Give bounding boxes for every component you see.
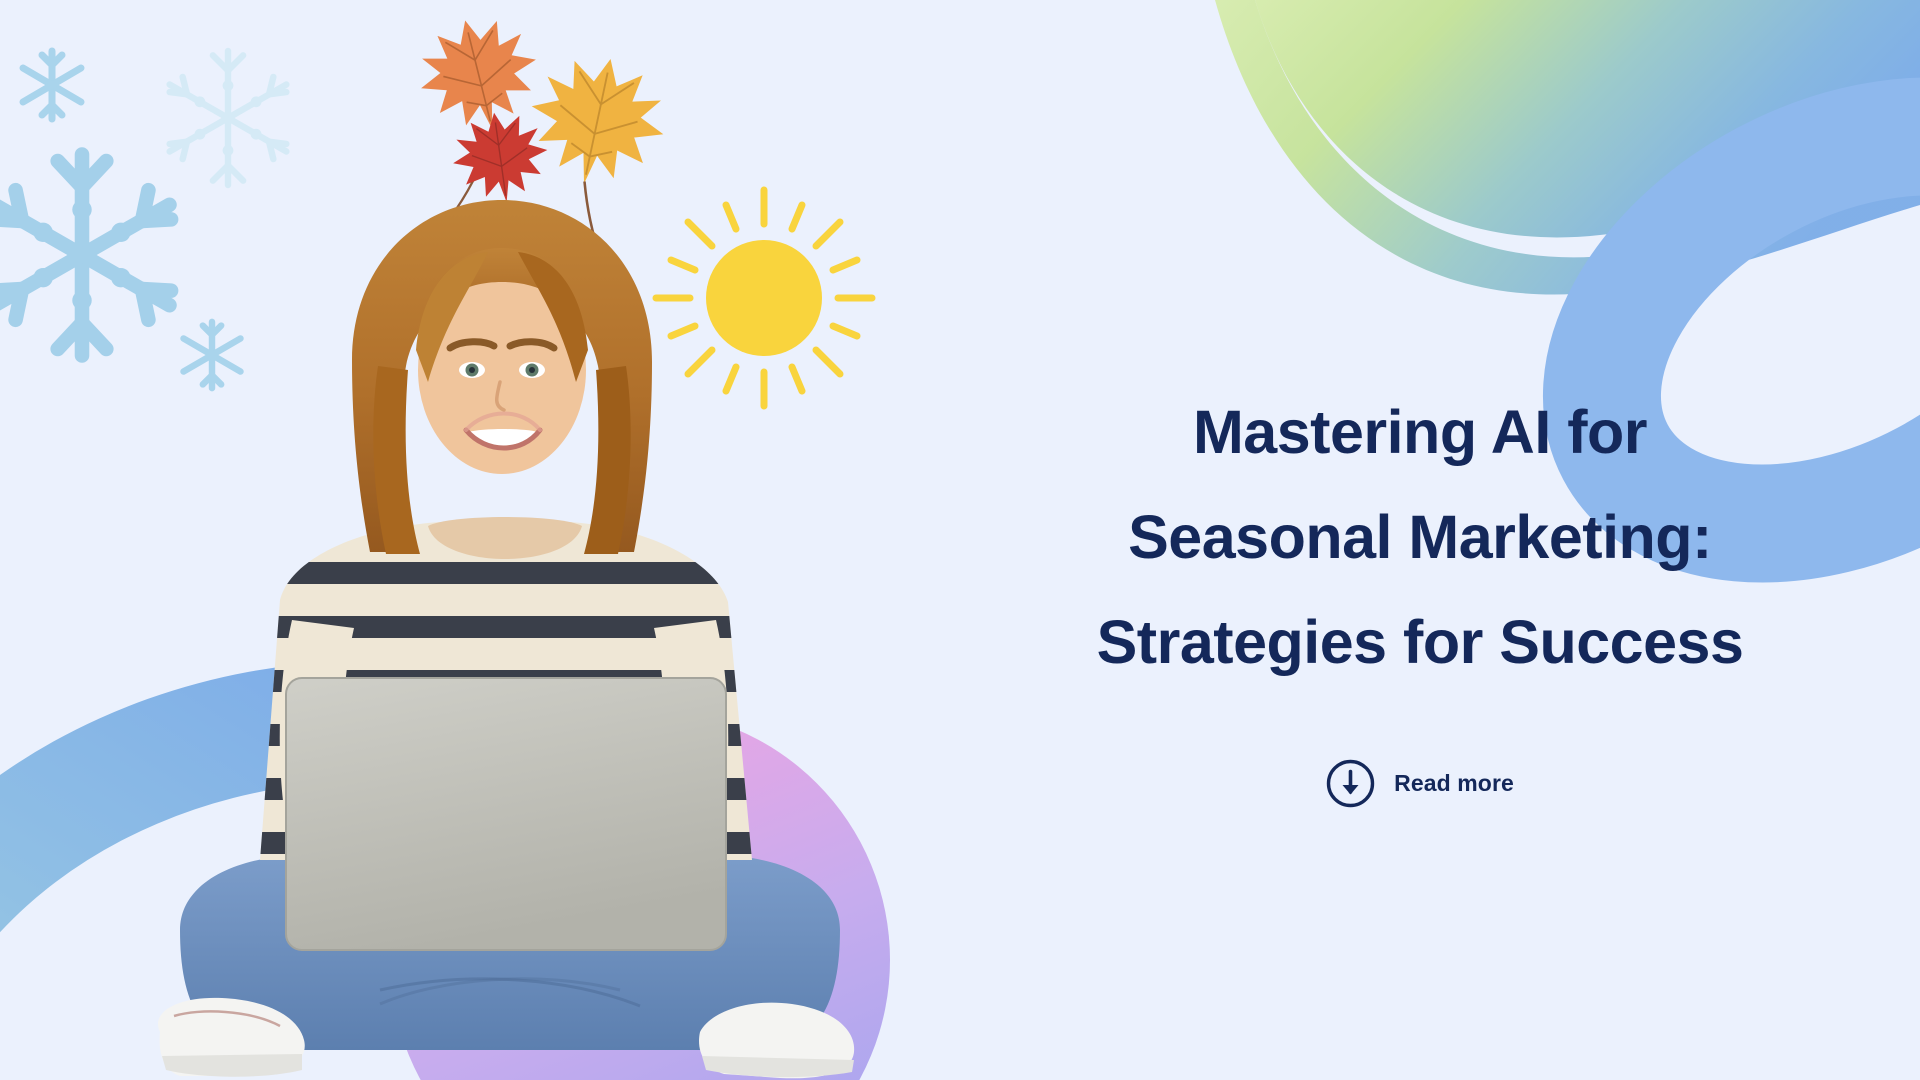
head bbox=[352, 200, 652, 554]
headline-line-2: Seasonal Marketing: bbox=[980, 485, 1860, 590]
hero-content: Mastering AI for Seasonal Marketing: Str… bbox=[980, 380, 1860, 808]
snowflake-faint-top bbox=[170, 51, 287, 185]
hero-banner: Mastering AI for Seasonal Marketing: Str… bbox=[0, 0, 1920, 1080]
laptop bbox=[286, 678, 726, 950]
page-title: Mastering AI for Seasonal Marketing: Str… bbox=[980, 380, 1860, 695]
woman-with-laptop-photo bbox=[140, 170, 880, 1080]
snowflake-small-top-left bbox=[23, 51, 81, 119]
person-illustration bbox=[140, 170, 880, 1080]
read-more-button[interactable]: Read more bbox=[1326, 759, 1514, 808]
read-more-label: Read more bbox=[1394, 772, 1514, 795]
headline-line-3: Strategies for Success bbox=[980, 590, 1860, 695]
headline-line-1: Mastering AI for bbox=[980, 380, 1860, 485]
arrow-down-circle-icon[interactable] bbox=[1326, 759, 1375, 808]
